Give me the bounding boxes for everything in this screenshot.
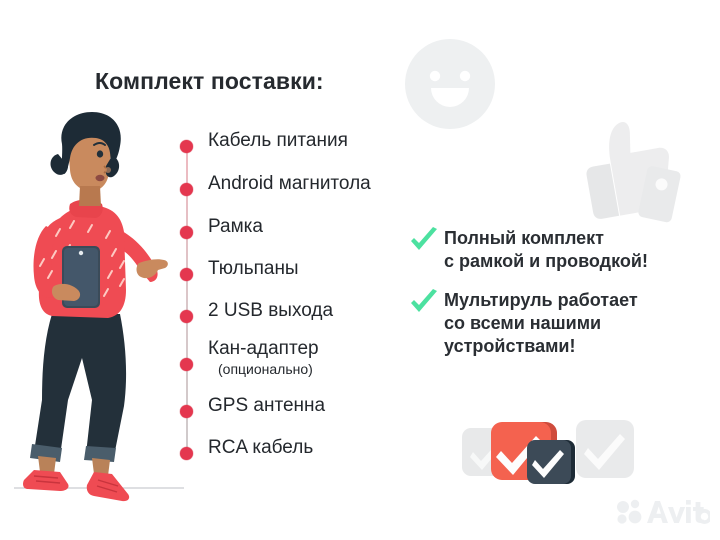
bullet-dot	[180, 405, 193, 418]
bullet-dot	[180, 183, 193, 196]
woman-pointing-illustration	[8, 100, 184, 510]
list-item-label: RCA кабель	[208, 437, 313, 459]
bullet-dot	[180, 268, 193, 281]
bullet-dot	[180, 358, 193, 371]
benefit-line-2: с рамкой и проводкой!	[444, 250, 648, 273]
page-title: Комплект поставки:	[95, 68, 324, 95]
promo-canvas: Комплект поставки: Кабель питания Androi…	[0, 0, 720, 540]
checkbox-light-right	[576, 420, 634, 478]
green-check-icon	[408, 226, 440, 258]
green-check-icon	[408, 288, 440, 320]
thumbs-up-icon	[572, 112, 690, 224]
avito-logo	[616, 498, 710, 526]
benefit-line-1: Мультируль работает	[444, 289, 638, 312]
bullet-dot	[180, 447, 193, 460]
list-item-label: Android магнитола	[208, 173, 371, 195]
list-item-label: Кан-адаптер	[208, 338, 319, 360]
benefit-line-2: со всеми нашими	[444, 312, 601, 335]
bullet-dot	[180, 140, 193, 153]
list-item-label: Рамка	[208, 216, 263, 238]
list-item-label: Кабель питания	[208, 130, 348, 152]
list-item-label: Тюльпаны	[208, 258, 299, 280]
smiley-face-icon	[404, 38, 496, 130]
checkbox-dark	[527, 440, 575, 484]
bullet-dot	[180, 310, 193, 323]
benefit-line-3: устройствами!	[444, 335, 575, 358]
benefit-line-1: Полный комплект	[444, 227, 604, 250]
list-item-label: 2 USB выхода	[208, 300, 333, 322]
checkbox-cluster-illustration	[462, 412, 642, 502]
bullet-dot	[180, 226, 193, 239]
list-item-label: GPS антенна	[208, 395, 325, 417]
list-item-sublabel: (опционально)	[218, 361, 313, 377]
